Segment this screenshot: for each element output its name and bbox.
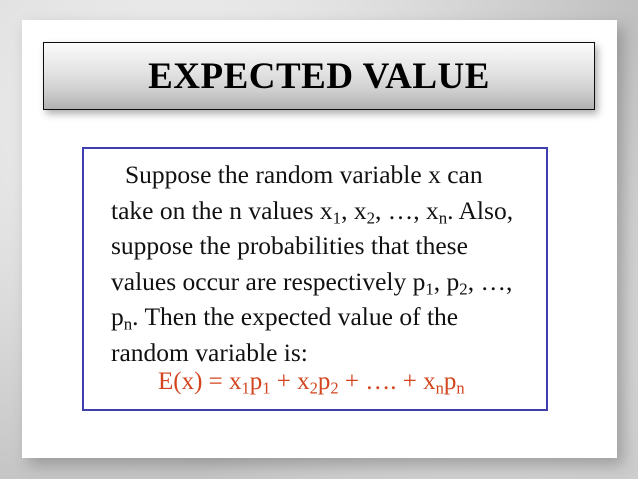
subscript-n: n: [456, 379, 464, 398]
slide-page: EXPECTED VALUE Suppose the random variab…: [22, 20, 617, 458]
slide-title: EXPECTED VALUE: [148, 58, 490, 95]
subscript-1: 1: [262, 379, 270, 398]
title-box: EXPECTED VALUE: [43, 42, 595, 110]
subscript-2: 2: [330, 379, 338, 398]
subscript-2: 2: [459, 279, 467, 298]
subscript-1: 1: [333, 208, 341, 227]
subscript-n: n: [124, 315, 132, 334]
expected-value-formula: E(x) = x1p1 + x2p2 + …. + xnpn: [158, 367, 465, 397]
subscript-2: 2: [367, 208, 375, 227]
subscript-n: n: [436, 379, 444, 398]
body-paragraph: Suppose the random variable x can take o…: [111, 157, 531, 370]
subscript-n: n: [439, 208, 447, 227]
slide-canvas: EXPECTED VALUE Suppose the random variab…: [0, 0, 638, 479]
subscript-1: 1: [242, 379, 250, 398]
body-text-box: Suppose the random variable x can take o…: [82, 147, 548, 411]
subscript-2: 2: [310, 379, 318, 398]
subscript-1: 1: [425, 279, 433, 298]
